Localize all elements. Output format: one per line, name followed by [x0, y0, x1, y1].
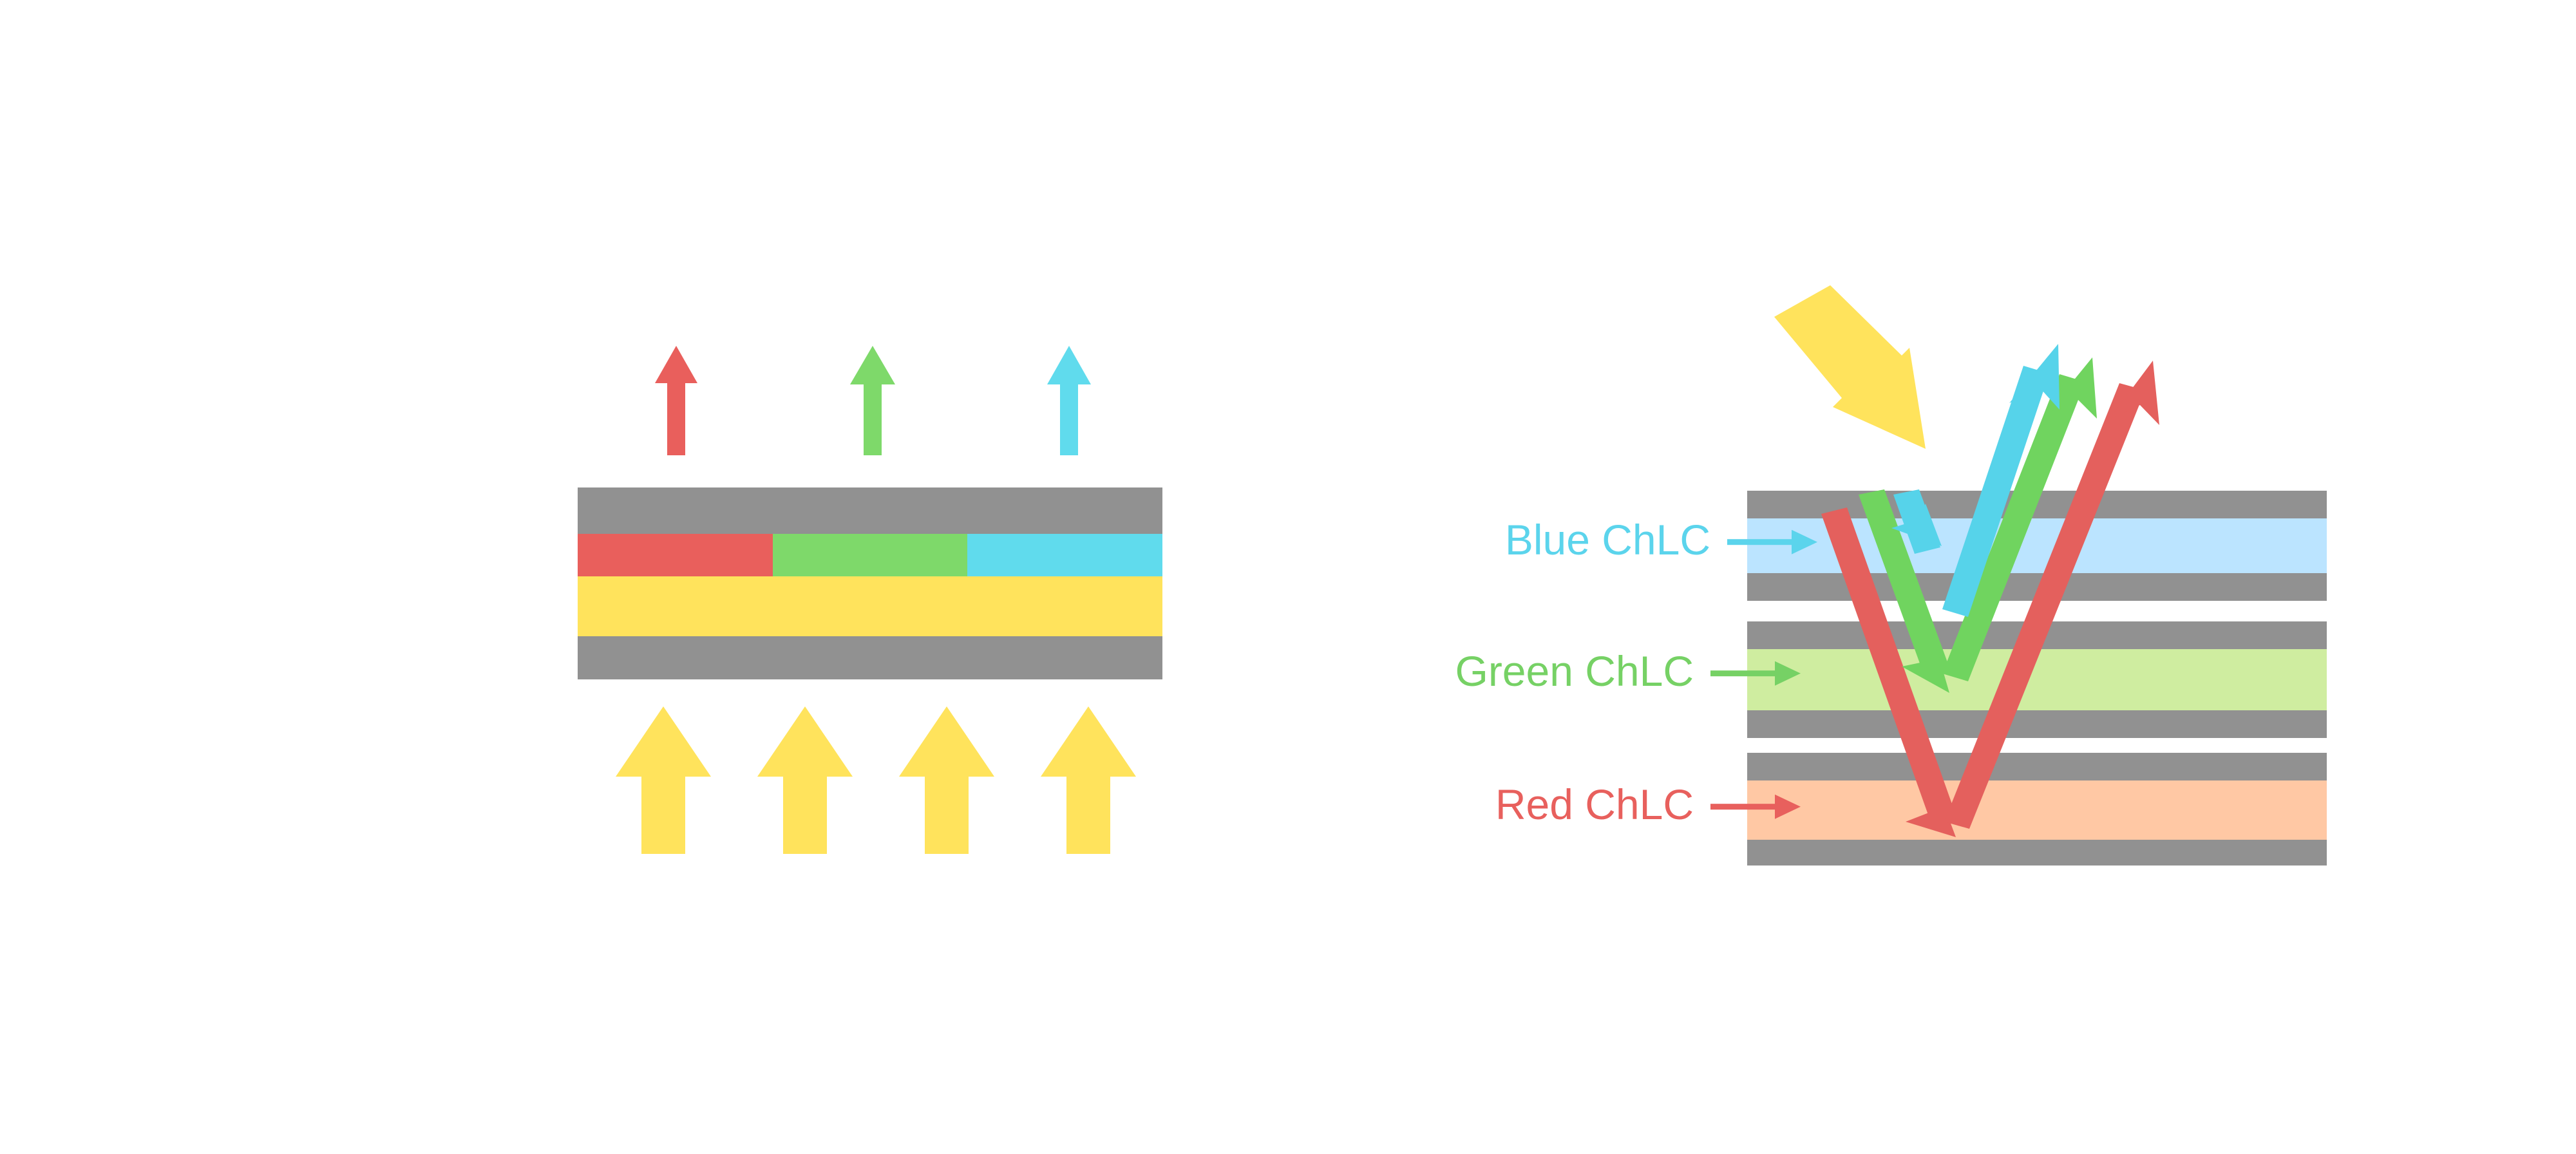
left-top-electrode	[578, 487, 1162, 534]
left-red-segment	[578, 534, 773, 576]
chlc-diagram-figure: Blue ChLC Green ChLC Red ChLC	[0, 0, 2576, 1154]
green-chlc-label: Green ChLC	[1455, 647, 1694, 695]
red-chlc-cell	[1747, 753, 2327, 865]
blue-chlc-label: Blue ChLC	[1505, 516, 1710, 563]
left-bottom-electrode	[578, 636, 1162, 679]
green-cell-bottom-electrode	[1747, 710, 2327, 738]
red-cell-top-electrode	[1747, 753, 2327, 780]
left-blue-segment	[967, 534, 1162, 576]
red-chlc-medium	[1747, 780, 2327, 840]
left-yellow-backlight-layer	[578, 576, 1162, 636]
left-layer-stack	[578, 487, 1162, 679]
red-chlc-label: Red ChLC	[1495, 780, 1694, 828]
left-green-segment	[773, 534, 967, 576]
red-cell-bottom-electrode	[1747, 840, 2327, 865]
